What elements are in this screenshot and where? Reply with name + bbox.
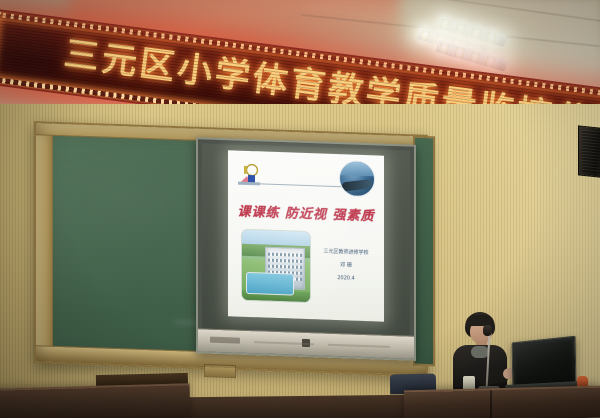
microphone-head [483,325,492,336]
slide-credit-line: 2020.4 [314,271,378,286]
presenter-fringe [466,315,494,326]
whiteboard-brand-logo [210,337,240,344]
speaker-grille [582,130,600,175]
school-aerial-photo [241,229,311,303]
light-bulb [420,29,431,41]
photo-scene: 三元区小学体育教学质量监控分析会 [0,0,600,418]
podium-seam [490,390,492,418]
light-bulb [470,27,481,39]
light-bulb [486,31,497,43]
light-bulb [485,55,496,67]
building-windows [268,265,302,269]
slide-circle-photo [339,160,375,197]
light-bulb [439,42,450,54]
presenter-podium [404,386,600,418]
blackboard-right-segment [413,136,435,367]
light-bulb [454,46,465,58]
audience-desk-front [0,383,190,418]
wall-speaker [578,125,600,178]
slide-credits: 三元区教师进修学校 邓 珊 2020.4 [314,245,378,286]
interactive-whiteboard-panel[interactable]: 课课练 防近视 强素质 三元区教师进修学校 邓 珊 [196,137,416,361]
circle-photo-subject [341,179,372,192]
slide-credit-line: 三元区教师进修学校 [314,245,378,260]
projected-slide: 课课练 防近视 强素质 三元区教师进修学校 邓 珊 [228,150,384,321]
building-windows [268,259,302,263]
light-bulb [440,18,451,30]
laptop-screen [516,340,573,387]
light-bulb [455,22,466,34]
whiteboard-tool-bar[interactable] [328,344,390,348]
building-windows [268,253,302,257]
circle-photo-sky [340,161,374,176]
slide-headline: 课课练 防近视 强素质 [228,200,384,224]
audience-desk-middle [186,395,416,418]
photo-sports-field [246,272,294,296]
light-bulb [469,51,480,63]
